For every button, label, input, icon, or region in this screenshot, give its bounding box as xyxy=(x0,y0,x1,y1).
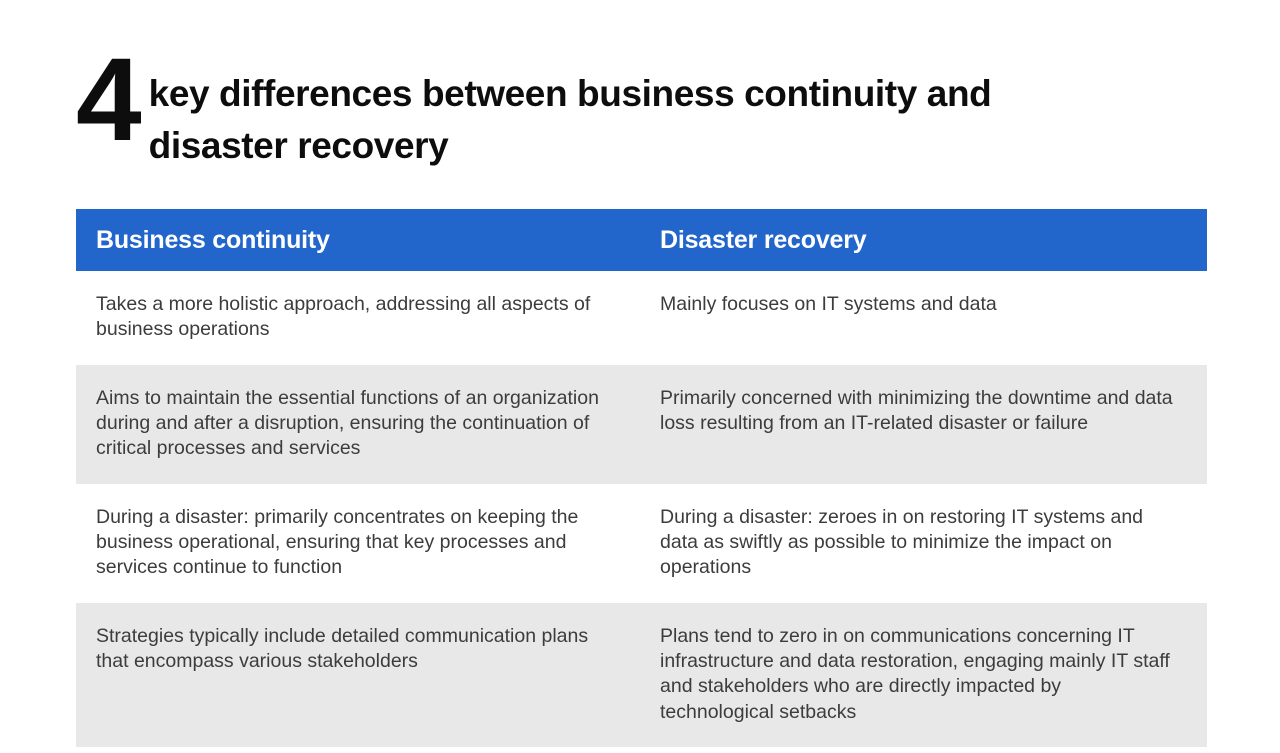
table-row: Strategies typically include detailed co… xyxy=(76,603,1207,747)
table-row: Aims to maintain the essential functions… xyxy=(76,365,1207,484)
column-header-disaster-recovery: Disaster recovery xyxy=(641,226,1207,255)
cell-business-continuity: Takes a more holistic approach, addressi… xyxy=(76,271,641,365)
heading-text: key differences between business continu… xyxy=(149,68,1139,172)
page-title: 4 key differences between business conti… xyxy=(76,52,1196,172)
cell-disaster-recovery: Mainly focuses on IT systems and data xyxy=(641,271,1207,339)
table-row: During a disaster: primarily concentrate… xyxy=(76,484,1207,603)
cell-business-continuity: Strategies typically include detailed co… xyxy=(76,603,641,697)
column-header-business-continuity: Business continuity xyxy=(76,226,641,255)
table-row: Takes a more holistic approach, addressi… xyxy=(76,271,1207,365)
cell-business-continuity: During a disaster: primarily concentrate… xyxy=(76,484,641,603)
cell-business-continuity: Aims to maintain the essential functions… xyxy=(76,365,641,484)
table-header-row: Business continuity Disaster recovery xyxy=(76,209,1207,271)
cell-disaster-recovery: Primarily concerned with minimizing the … xyxy=(641,365,1207,459)
cell-disaster-recovery: Plans tend to zero in on communications … xyxy=(641,603,1207,747)
cell-disaster-recovery: During a disaster: zeroes in on restorin… xyxy=(641,484,1207,603)
comparison-table: Business continuity Disaster recovery Ta… xyxy=(76,209,1207,747)
heading-number: 4 xyxy=(76,46,139,155)
